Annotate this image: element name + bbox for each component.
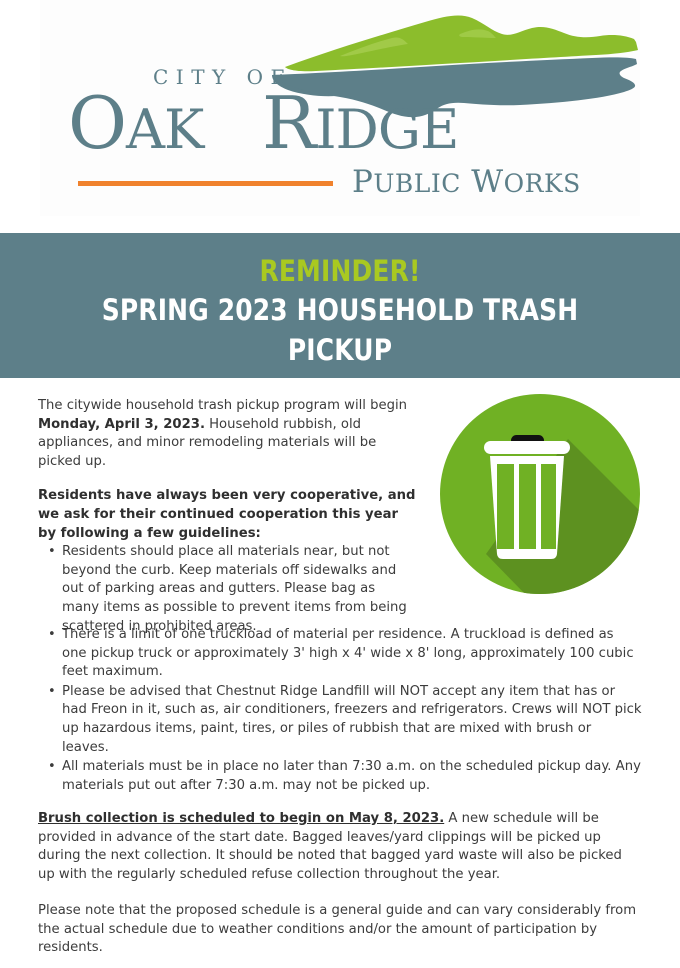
wide-text-column: There is a limit of one truckload of mat…	[38, 626, 642, 796]
logo-orange-rule	[78, 181, 333, 186]
trash-can-graphic	[440, 394, 640, 594]
intro-lead: The citywide household trash pickup prog…	[38, 398, 407, 413]
schedule-note-block: Please note that the proposed schedule i…	[38, 902, 642, 958]
banner-reminder-text: REMINDER!	[48, 252, 633, 290]
logo-band: CITY OF OAK RIDGE PUBLIC WORKS	[0, 0, 680, 233]
trash-slot-2	[519, 464, 536, 549]
intro-date-bold: Monday, April 3, 2023.	[38, 417, 205, 432]
trash-slot-1	[497, 464, 514, 549]
narrow-text-column: The citywide household trash pickup prog…	[38, 397, 416, 637]
schedule-note-paragraph: Please note that the proposed schedule i…	[38, 902, 642, 958]
guidelines-list-narrow: Residents should place all materials nea…	[38, 543, 416, 636]
list-item: Please be advised that Chestnut Ridge La…	[62, 683, 642, 757]
list-item: All materials must be in place no later …	[62, 758, 642, 795]
logo-public-works-text: PUBLIC WORKS	[352, 164, 581, 200]
cooperation-heading: Residents have always been very cooperat…	[38, 487, 416, 543]
trash-slot-3	[541, 464, 556, 549]
guidelines-list-wide: There is a limit of one truckload of mat…	[38, 626, 642, 795]
brush-collection-lead: Brush collection is scheduled to begin o…	[38, 811, 444, 826]
list-item: There is a limit of one truckload of mat…	[62, 626, 642, 682]
banner-headline-line1: SPRING 2023 HOUSEHOLD TRASH PICKUP	[48, 290, 633, 370]
trash-lid	[484, 441, 570, 454]
logo-oak-text: OAK	[68, 81, 206, 165]
intro-paragraph: The citywide household trash pickup prog…	[38, 397, 416, 471]
brush-collection-block: Brush collection is scheduled to begin o…	[38, 810, 642, 884]
brush-collection-paragraph: Brush collection is scheduled to begin o…	[38, 810, 642, 884]
reminder-banner: REMINDER! SPRING 2023 HOUSEHOLD TRASH PI…	[0, 233, 680, 378]
list-item: Residents should place all materials nea…	[62, 543, 416, 636]
oak-ridge-mountain-logo: CITY OF OAK RIDGE PUBLIC WORKS	[40, 0, 640, 216]
